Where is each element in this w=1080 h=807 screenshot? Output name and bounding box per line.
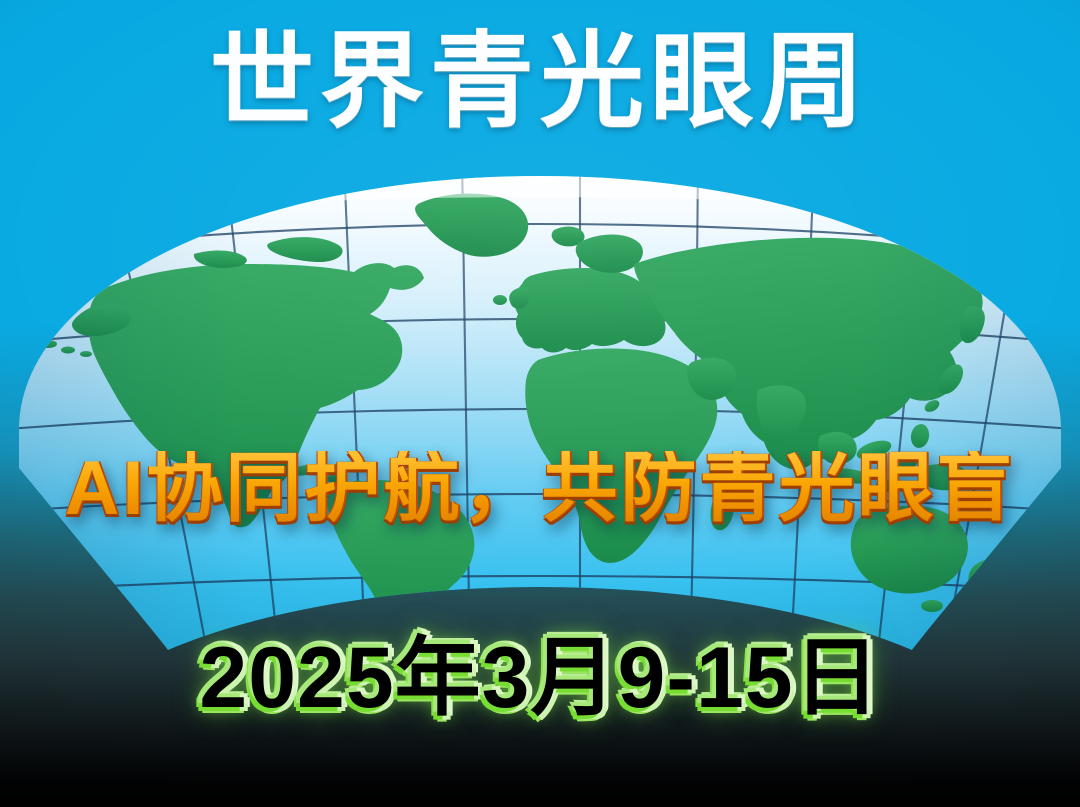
globe-svg: [14, 168, 1066, 658]
event-date: 2025年3月9-15日: [0, 635, 1080, 721]
world-globe-graphic: [14, 168, 1066, 658]
globe-body: [14, 168, 1066, 658]
globe-shading: [14, 168, 1066, 658]
poster-canvas: 世界青光眼周 AI协同护航，共防青光眼盲 2025年3月9-15日: [0, 0, 1080, 807]
campaign-slogan: AI协同护航，共防青光眼盲: [0, 451, 1080, 527]
page-title: 世界青光眼周: [0, 26, 1080, 138]
